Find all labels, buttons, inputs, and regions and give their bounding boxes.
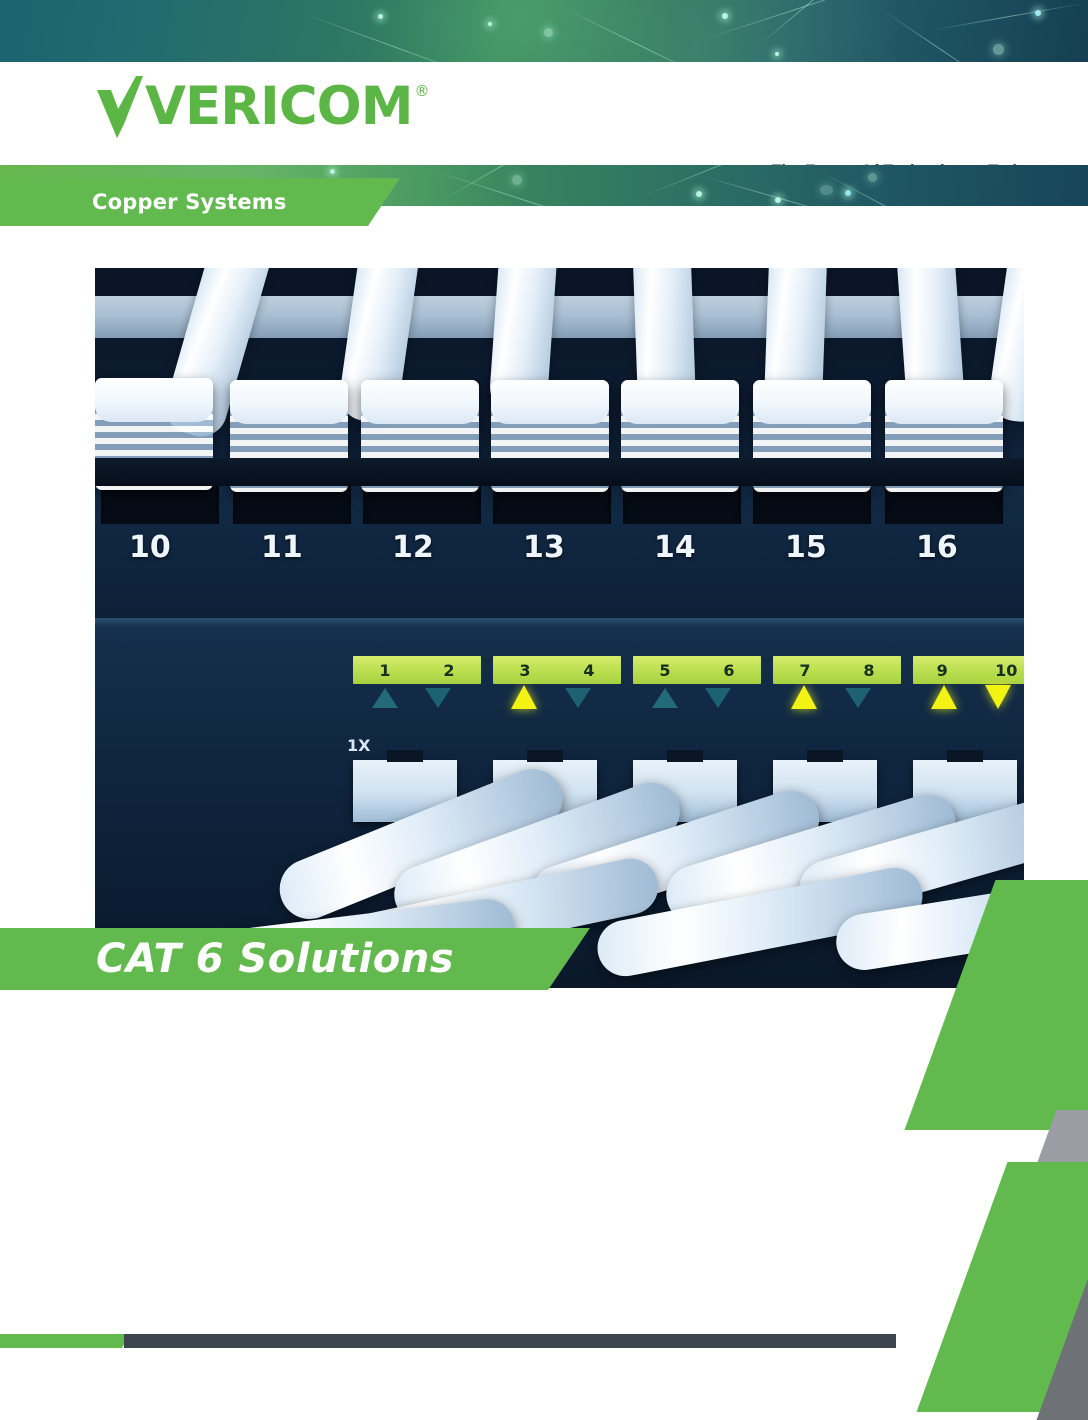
page-title: CAT 6 Solutions bbox=[96, 936, 454, 982]
led-indicator-down bbox=[565, 688, 591, 708]
led-group: 3 4 bbox=[493, 656, 621, 684]
port-number: 14 bbox=[654, 530, 696, 565]
led-indicator-up bbox=[511, 685, 537, 709]
led-group: 1 2 bbox=[353, 656, 481, 684]
port-number: 16 bbox=[916, 530, 958, 565]
upper-panel-lower-rail bbox=[95, 458, 1024, 486]
led-indicator-up bbox=[372, 688, 398, 708]
patch-panel-photo: 10 11 12 13 14 15 16 1 2 3 4 5 6 7 8 9 1… bbox=[95, 268, 1024, 988]
page-title-banner: CAT 6 Solutions bbox=[0, 928, 590, 990]
led-port-number: 8 bbox=[863, 661, 874, 680]
led-group: 9 10 bbox=[913, 656, 1024, 684]
top-network-banner bbox=[0, 0, 1088, 62]
led-indicator-up bbox=[652, 688, 678, 708]
port-number: 10 bbox=[129, 530, 171, 565]
led-indicator-down bbox=[425, 688, 451, 708]
led-indicator-down bbox=[985, 685, 1011, 709]
footer-rule-dark-segment bbox=[124, 1334, 896, 1348]
port-number: 15 bbox=[785, 530, 827, 565]
port-number: 13 bbox=[523, 530, 565, 565]
section-tab-label: Copper Systems bbox=[92, 190, 287, 214]
switch-slot-label: 1X bbox=[347, 736, 370, 755]
footer-rule-green-segment bbox=[0, 1334, 130, 1348]
led-port-number: 3 bbox=[519, 661, 530, 680]
led-indicator-up bbox=[791, 685, 817, 709]
led-port-number: 7 bbox=[799, 661, 810, 680]
led-port-number: 2 bbox=[443, 661, 454, 680]
led-group: 5 6 bbox=[633, 656, 761, 684]
led-indicator-up bbox=[931, 685, 957, 709]
led-port-number: 5 bbox=[659, 661, 670, 680]
logo-header-row: VERICOM ® The Future Of Technology - Tod… bbox=[0, 62, 1088, 165]
led-indicator-down bbox=[845, 688, 871, 708]
switch-top-seam bbox=[95, 618, 1024, 627]
led-port-number: 10 bbox=[995, 661, 1017, 680]
port-number: 11 bbox=[261, 530, 303, 565]
led-port-number: 9 bbox=[937, 661, 948, 680]
logo-wordmark: VERICOM bbox=[145, 76, 412, 138]
led-indicator-down bbox=[705, 688, 731, 708]
led-port-number: 6 bbox=[723, 661, 734, 680]
led-port-number: 4 bbox=[583, 661, 594, 680]
led-port-number: 1 bbox=[379, 661, 390, 680]
section-tab-copper-systems: Copper Systems bbox=[0, 178, 400, 226]
port-number: 12 bbox=[392, 530, 434, 565]
top-banner-network-graphic bbox=[0, 0, 1088, 62]
led-group: 7 8 bbox=[773, 656, 901, 684]
check-v-mark-icon bbox=[95, 76, 151, 138]
vericom-logo[interactable]: VERICOM ® bbox=[95, 76, 429, 138]
registered-trademark-mark: ® bbox=[414, 76, 429, 106]
